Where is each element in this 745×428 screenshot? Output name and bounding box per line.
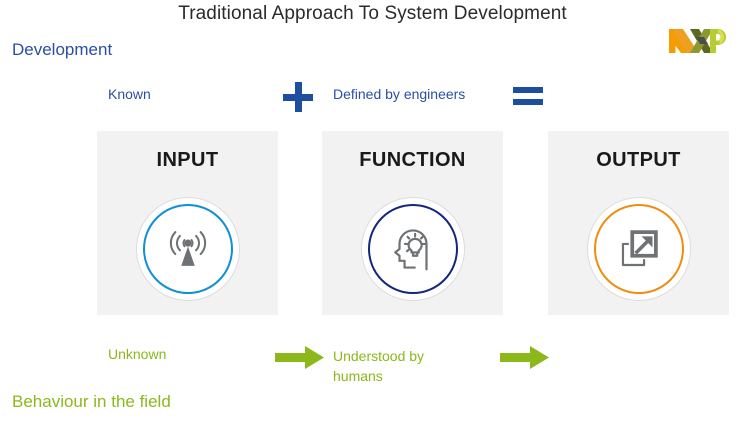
annotation-function-defined-by-engineers: Defined by engineers bbox=[333, 86, 465, 102]
phase-label-development: Development bbox=[12, 40, 112, 60]
stage-title-function: FUNCTION bbox=[322, 149, 503, 172]
stage-card-function: FUNCTION bbox=[322, 131, 503, 315]
arrow-right-icon-input-to-function bbox=[275, 345, 325, 370]
equals-icon-top-bar bbox=[513, 87, 543, 93]
plus-icon-vertical-bar bbox=[295, 82, 302, 112]
stage-medallion-input bbox=[136, 197, 240, 301]
equals-icon bbox=[513, 86, 543, 107]
page-title: Traditional Approach To System Developme… bbox=[0, 3, 745, 25]
stage-title-output: OUTPUT bbox=[548, 149, 729, 172]
phase-label-behaviour-in-the-field: Behaviour in the field bbox=[12, 392, 171, 412]
stage-title-input: INPUT bbox=[97, 149, 278, 172]
annotation-function-understood-by-humans: Understood by humans bbox=[333, 346, 463, 386]
export-arrow-out-of-box-icon bbox=[612, 222, 666, 276]
plus-icon bbox=[283, 82, 313, 112]
stage-medallion-output bbox=[587, 197, 691, 301]
head-lightbulb-idea-icon bbox=[386, 222, 440, 276]
equals-icon-bottom-bar bbox=[513, 99, 543, 105]
arrow-right-icon-function-to-output bbox=[500, 345, 550, 370]
annotation-input-known: Known bbox=[108, 86, 151, 102]
nxp-logo bbox=[668, 28, 726, 54]
annotation-input-unknown: Unknown bbox=[108, 346, 166, 362]
slide-canvas: Traditional Approach To System Developme… bbox=[0, 0, 745, 428]
stage-card-input: INPUT bbox=[97, 131, 278, 315]
broadcast-antenna-icon bbox=[161, 222, 215, 276]
stage-medallion-function bbox=[361, 197, 465, 301]
stage-card-output: OUTPUT bbox=[548, 131, 729, 315]
